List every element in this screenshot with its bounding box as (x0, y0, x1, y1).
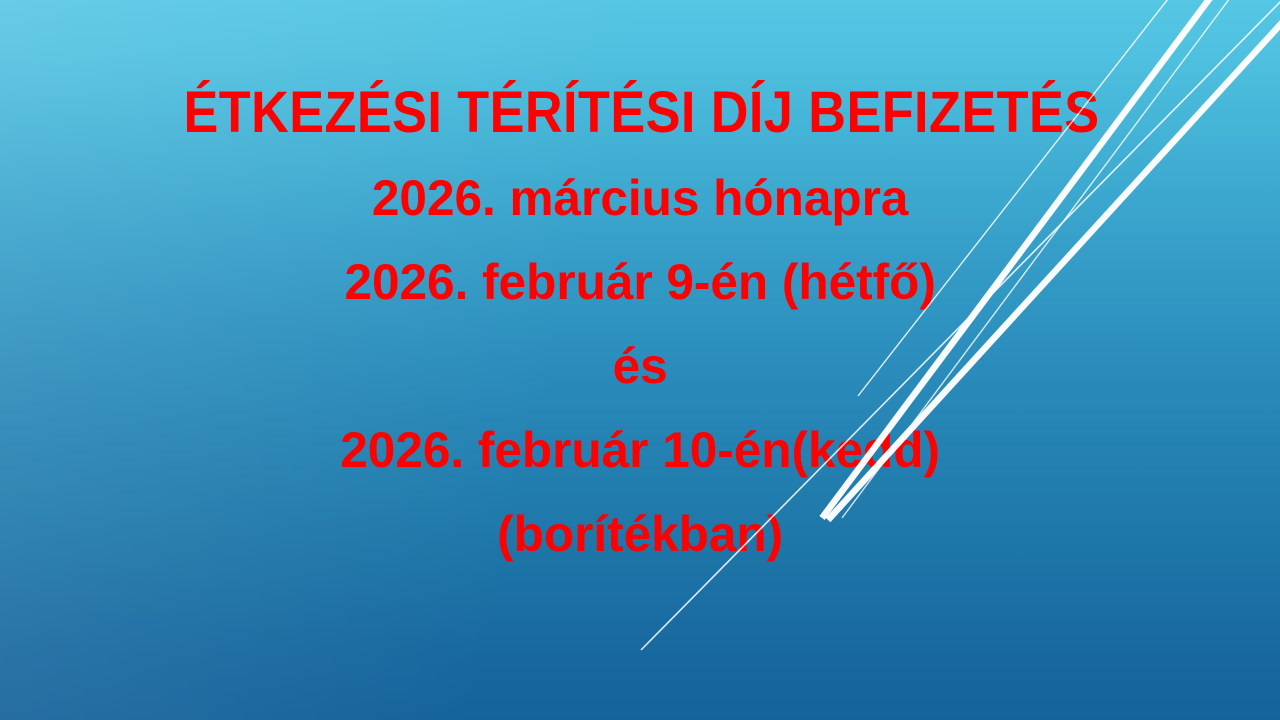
slide-canvas: ÉTKEZÉSI TÉRÍTÉSI DÍJ BEFIZETÉS 2026. má… (0, 0, 1280, 720)
slide-body-line-4: 2026. február 10-én(kedd) (7, 425, 1274, 475)
slide-body-line-2: 2026. február 9-én (hétfő) (7, 257, 1274, 307)
slide-body-line-3: és (7, 341, 1274, 391)
slide-body-line-5: (borítékban) (7, 509, 1274, 559)
slide-title: ÉTKEZÉSI TÉRÍTÉSI DÍJ BEFIZETÉS (66, 84, 1218, 142)
slide-body-line-1: 2026. március hónapra (7, 173, 1274, 223)
slide-text-block: ÉTKEZÉSI TÉRÍTÉSI DÍJ BEFIZETÉS 2026. má… (0, 0, 1280, 720)
